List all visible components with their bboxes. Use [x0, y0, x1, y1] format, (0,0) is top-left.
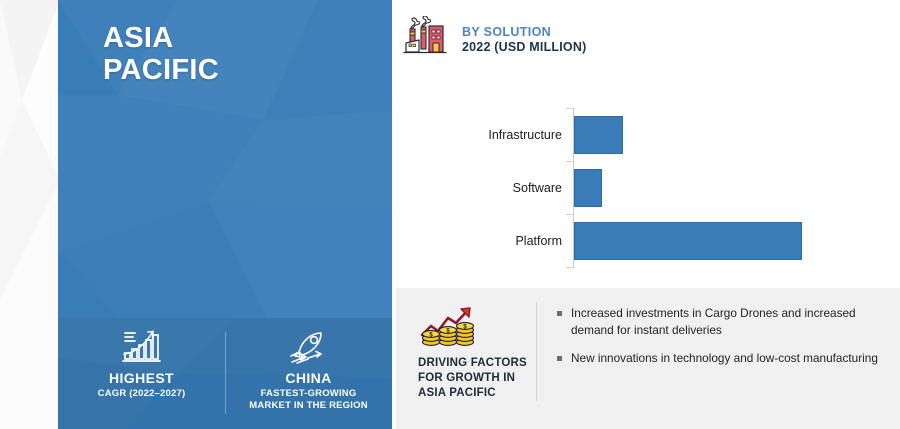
chart-subtitle: 2022 (USD MILLION)	[462, 40, 586, 55]
growth-bar-chart-icon	[119, 326, 165, 368]
driving-factors-list: Increased investments in Cargo Drones an…	[537, 288, 900, 429]
list-item-text: Increased investments in Cargo Drones an…	[571, 305, 886, 339]
list-item: New innovations in technology and low-co…	[557, 350, 886, 367]
bar-software[interactable]	[574, 169, 602, 207]
driving-factors-panel: $ $ $ DRIVING FACTORS FOR	[396, 288, 900, 429]
stat-sublabel: FASTEST-GROWING MARKET IN THE REGION	[249, 388, 368, 412]
bullet-square-icon	[557, 356, 562, 361]
bar-infrastructure[interactable]	[574, 116, 623, 154]
chart-kicker: BY SOLUTION	[462, 25, 586, 40]
bullet-square-icon	[557, 311, 562, 316]
stat-highest-cagr: HIGHEST CAGR (2022–2027)	[58, 318, 225, 429]
page-title: ASIA PACIFIC	[103, 22, 219, 87]
stat-sublabel: CAGR (2022–2027)	[98, 388, 186, 400]
stats-panel: HIGHEST CAGR (2022–2027) CHINA FAS	[58, 318, 392, 429]
bar-category-label: Software	[403, 181, 562, 195]
hero-panel: ASIA PACIFIC	[58, 0, 392, 318]
list-item-text: New innovations in technology and low-co…	[571, 350, 878, 367]
axis-tick	[566, 267, 573, 268]
stat-value: CHINA	[285, 370, 331, 386]
bar-row: Software	[403, 169, 883, 207]
coins-growth-arrow-icon: $ $ $	[418, 304, 536, 350]
bar-row: Platform	[403, 222, 883, 260]
rocket-icon	[286, 326, 332, 368]
stat-value: HIGHEST	[109, 370, 174, 386]
bar-chart: Infrastructure Software Platform	[403, 100, 883, 278]
driving-factors-title: DRIVING FACTORS FOR GROWTH IN ASIA PACIF…	[418, 356, 536, 402]
stat-china-fastest-growing: CHINA FASTEST-GROWING MARKET IN THE REGI…	[225, 318, 392, 429]
factory-icon	[403, 16, 451, 63]
polygon-facets-svg	[0, 0, 60, 429]
bar-category-label: Infrastructure	[403, 128, 562, 142]
stats-divider	[225, 332, 226, 414]
decorative-polygon-background	[0, 0, 60, 429]
axis-tick	[566, 161, 573, 162]
list-item: Increased investments in Cargo Drones an…	[557, 305, 886, 339]
axis-tick	[566, 108, 573, 109]
bar-category-label: Platform	[403, 234, 562, 248]
axis-tick	[566, 214, 573, 215]
driving-factors-left: $ $ $ DRIVING FACTORS FOR	[396, 288, 536, 429]
bar-row: Infrastructure	[403, 116, 883, 154]
asia-pacific-market-infographic: ASIA PACIFIC	[0, 0, 900, 429]
bar-platform[interactable]	[574, 222, 802, 260]
chart-header-text: BY SOLUTION 2022 (USD MILLION)	[462, 25, 586, 55]
chart-header: BY SOLUTION 2022 (USD MILLION)	[403, 16, 586, 63]
